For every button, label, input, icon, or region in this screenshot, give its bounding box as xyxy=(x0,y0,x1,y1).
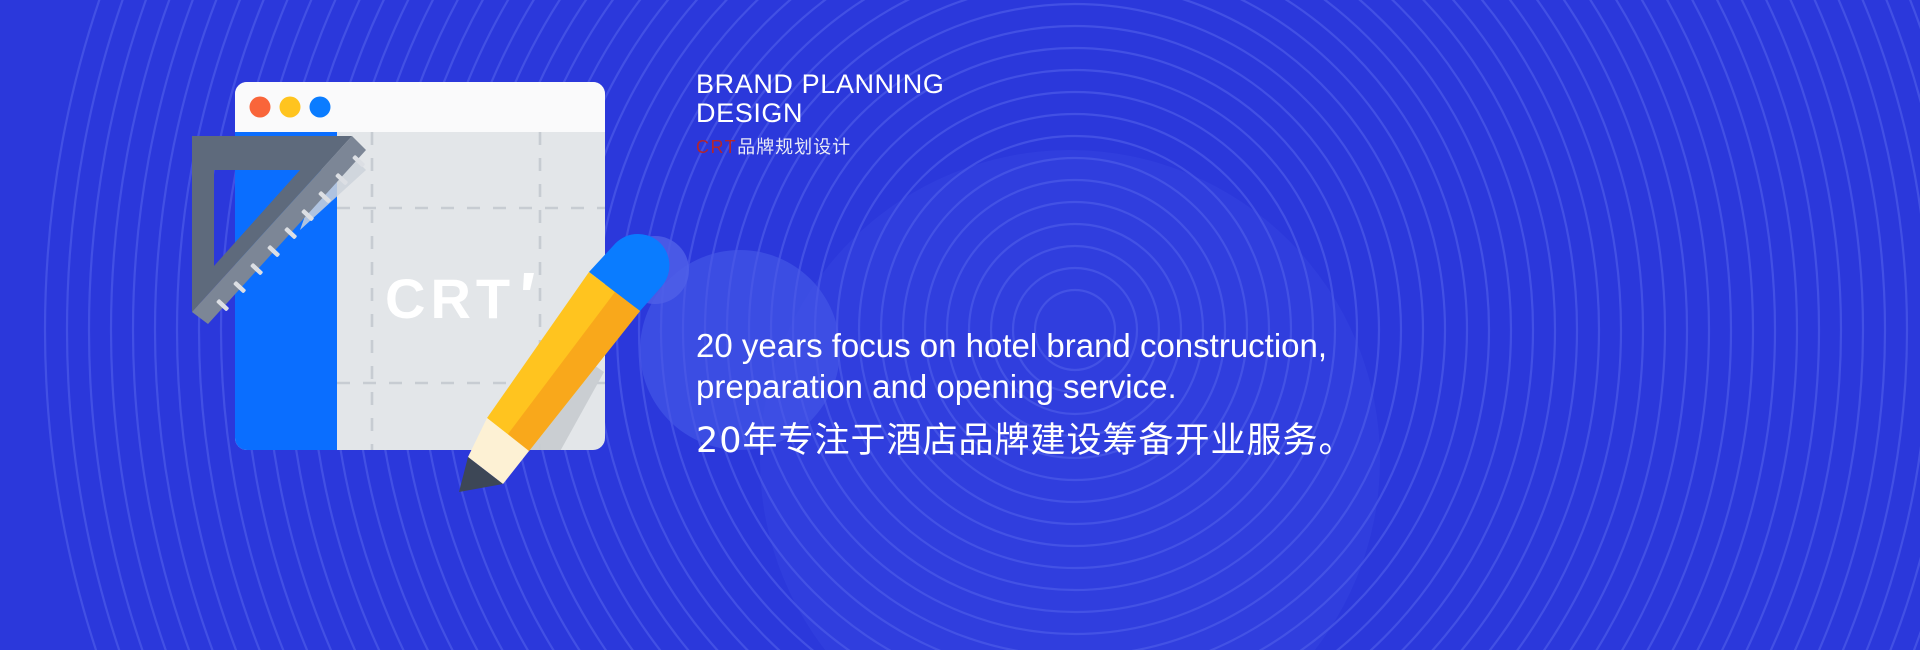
eyebrow-english: BRAND PLANNING DESIGN xyxy=(696,70,1396,128)
eyebrow-chinese: CRT品牌规划设计 xyxy=(696,136,1396,159)
maximize-dot-icon[interactable] xyxy=(310,97,331,118)
minimize-dot-icon[interactable] xyxy=(280,97,301,118)
eyebrow-block: BRAND PLANNING DESIGN CRT品牌规划设计 xyxy=(696,70,1396,159)
copy-column: BRAND PLANNING DESIGN CRT品牌规划设计 20 years… xyxy=(696,0,1876,650)
close-dot-icon[interactable] xyxy=(250,97,271,118)
headline-block: 20 years focus on hotel brand constructi… xyxy=(696,325,1456,463)
brand-banner: CRT xyxy=(0,0,1920,650)
headline-chinese: 20年专注于酒店品牌建设筹备开业服务。 xyxy=(696,419,1456,463)
page-logo-text: CRT xyxy=(385,267,515,330)
headline-english: 20 years focus on hotel brand constructi… xyxy=(696,325,1456,407)
brandmark-crt: CRT xyxy=(696,137,737,157)
eyebrow-chinese-text: 品牌规划设计 xyxy=(737,137,851,158)
